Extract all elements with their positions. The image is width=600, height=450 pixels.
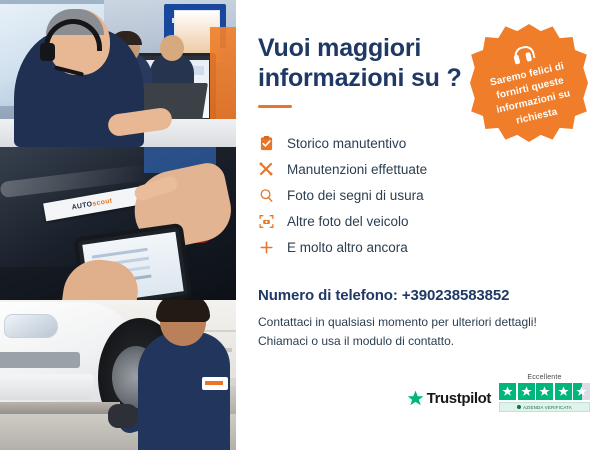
trustpilot-rating-word: Eccellente [527, 374, 561, 381]
feature-item-manutenzioni: Manutenzioni effettuate [258, 156, 578, 182]
magnifier-icon [258, 187, 274, 203]
contact-line-2: Chiamaci o usa il modulo di contatto. [258, 332, 578, 351]
callout-badge-text: Saremo felici di fornirti queste informa… [476, 57, 588, 135]
title-divider [258, 105, 292, 108]
headset-icon [511, 45, 534, 66]
feature-list: Storico manutentivo Manutenzioni effettu… [258, 130, 578, 260]
mechanic-body [138, 332, 230, 450]
callout-badge: Saremo felici di fornirti queste informa… [470, 24, 588, 142]
star-filled [536, 383, 553, 400]
photo-column: AUTOscout [0, 0, 236, 450]
verified-check-icon [517, 405, 521, 409]
verified-business-badge: AZIENDA VERIFICATA [499, 402, 590, 412]
window-frame [0, 0, 104, 4]
trustpilot-widget[interactable]: Trustpilot Eccellente [407, 374, 590, 412]
trustpilot-stars [499, 383, 590, 400]
background-coworker-2-head [160, 35, 184, 61]
feature-label: Foto dei segni di usura [287, 188, 424, 203]
feature-label: Manutenzioni effettuate [287, 162, 427, 177]
feature-label: E molto altro ancora [287, 240, 408, 255]
photo-wheel-service [0, 300, 236, 450]
car-headlight [4, 314, 58, 338]
star-filled [555, 383, 572, 400]
feature-item-altro: E molto altro ancora [258, 234, 578, 260]
feature-label: Altre foto del veicolo [287, 214, 409, 229]
feature-label: Storico manutentivo [287, 136, 406, 151]
mechanic-hair [156, 300, 210, 322]
verified-label: AZIENDA VERIFICATA [523, 405, 572, 410]
headset-earcup [40, 43, 55, 61]
phone-number: Numero di telefono: +390238583852 [258, 287, 578, 304]
trustpilot-star-icon [407, 390, 424, 407]
mechanic-glove [108, 404, 138, 428]
content-panel: Vuoi maggiori informazioni su ? Saremo f… [236, 0, 600, 450]
plus-icon [258, 239, 274, 255]
clipboard-check-icon [258, 135, 274, 151]
contact-text: Contattaci in qualsiasi momento per ulte… [258, 313, 578, 350]
trustpilot-logo: Trustpilot [407, 390, 491, 412]
wrench-cross-icon [258, 161, 274, 177]
car-grille [0, 352, 80, 368]
feature-item-altre-foto: Altre foto del veicolo [258, 208, 578, 234]
trustpilot-rating: Eccellente [499, 374, 590, 412]
promo-banner: AUTOscout [0, 0, 600, 450]
trustpilot-name: Trustpilot [427, 390, 491, 407]
feature-item-foto-usura: Foto dei segni di usura [258, 182, 578, 208]
photo-sticker-application: AUTOscout [0, 147, 236, 300]
contact-line-1: Contattaci in qualsiasi momento per ulte… [258, 313, 578, 332]
star-filled [518, 383, 535, 400]
star-half [573, 383, 590, 400]
photo-call-centre [0, 0, 236, 147]
camera-frame-icon [258, 213, 274, 229]
car-bumper [0, 374, 94, 400]
uniform-logo-patch [202, 377, 228, 390]
star-filled [499, 383, 516, 400]
